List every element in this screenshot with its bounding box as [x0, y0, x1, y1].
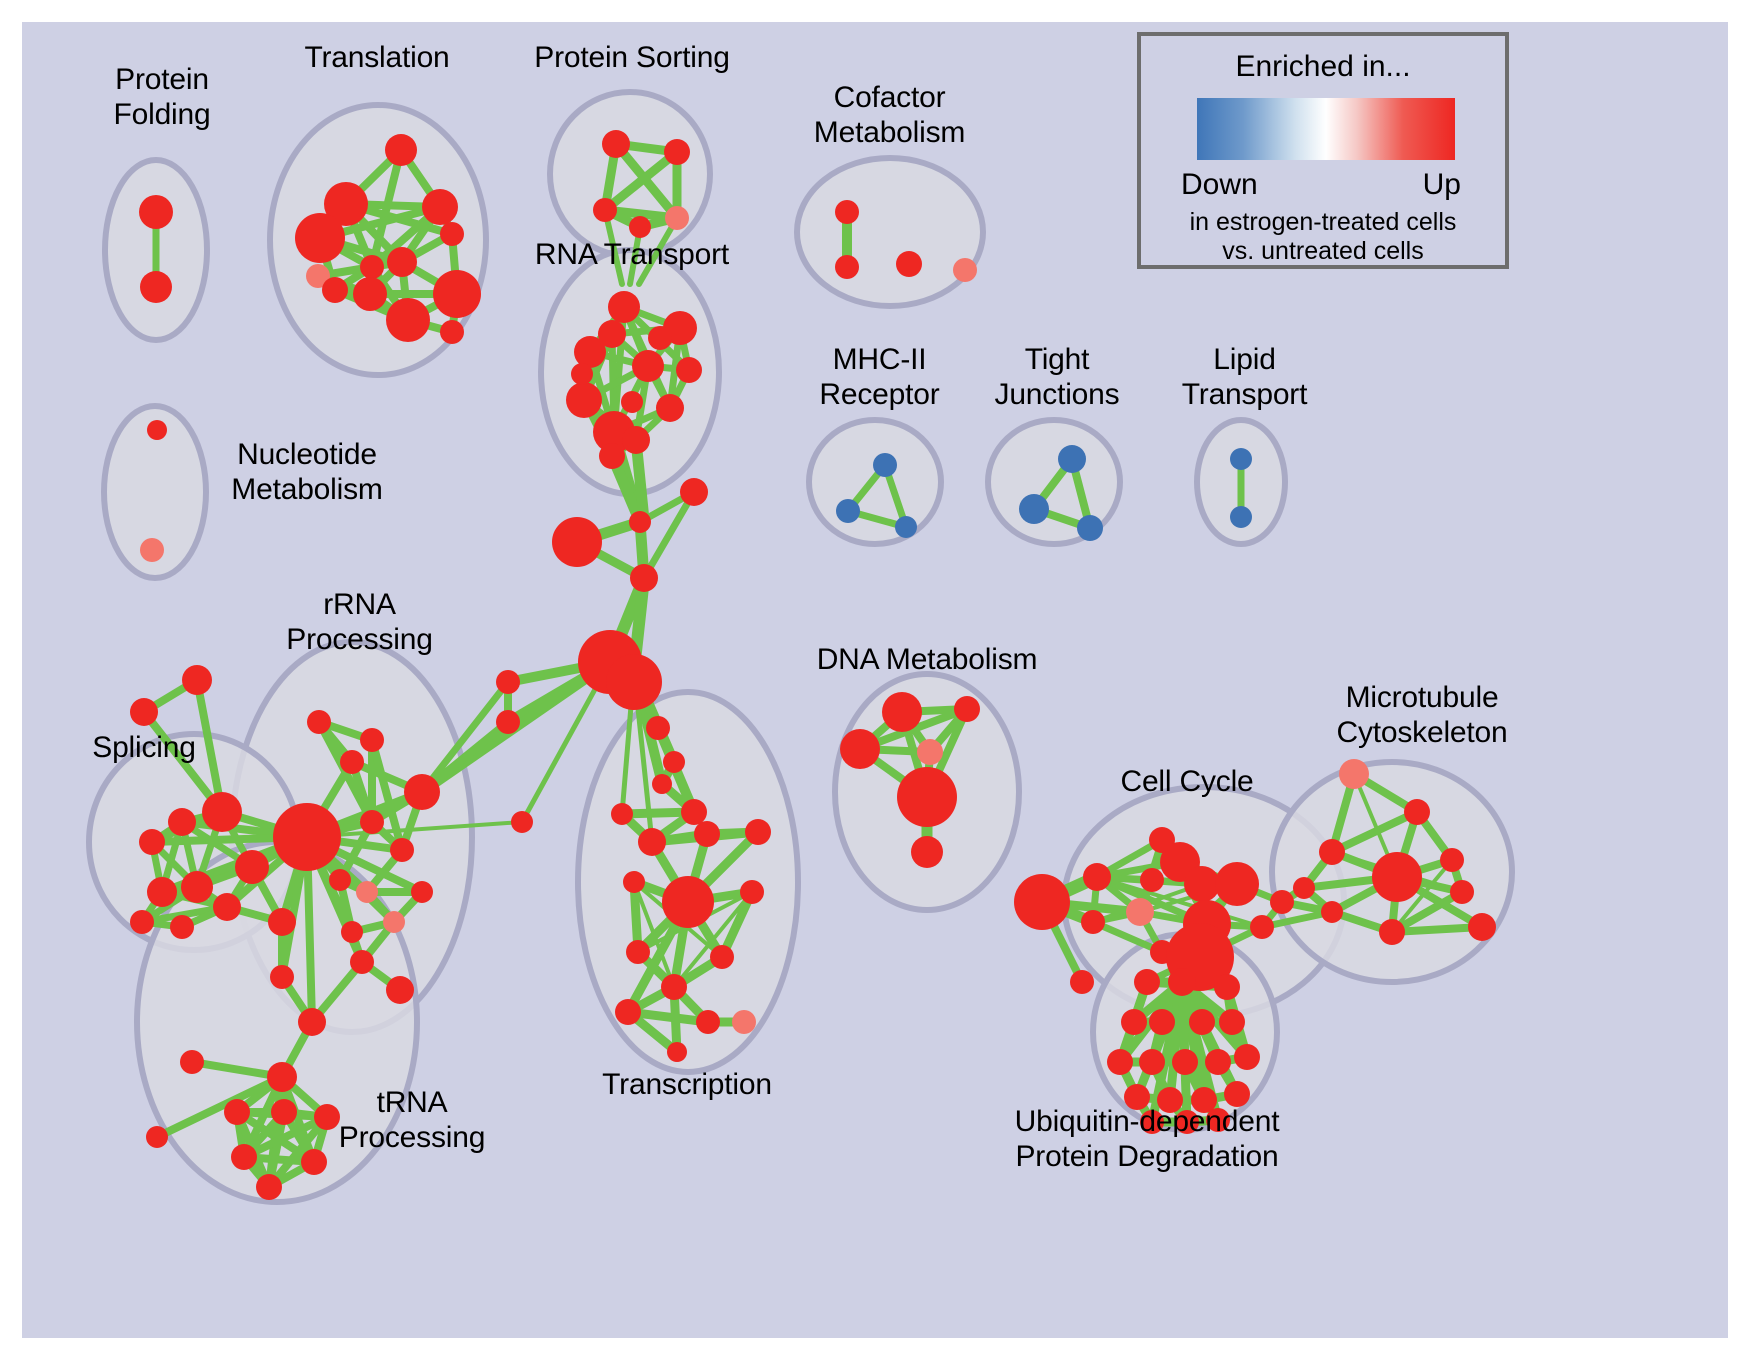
cluster-label-protein-folding: Protein Folding [82, 62, 242, 132]
node [1250, 915, 1274, 939]
node [496, 670, 520, 694]
node [681, 799, 707, 825]
node [353, 277, 387, 311]
node [648, 326, 672, 350]
node [1205, 1049, 1231, 1075]
node [140, 538, 164, 562]
node [1270, 890, 1294, 914]
node [611, 803, 633, 825]
node [911, 836, 943, 868]
node [840, 729, 880, 769]
node [1081, 910, 1105, 934]
node [390, 838, 414, 862]
node [1468, 913, 1496, 941]
cluster-label-trna-processing: tRNA Processing [312, 1085, 512, 1155]
node [385, 134, 417, 166]
node [1372, 852, 1422, 902]
cluster-label-cell-cycle: Cell Cycle [1087, 764, 1287, 799]
legend-subtitle: in estrogen-treated cells vs. untreated … [1141, 208, 1505, 266]
node [667, 1042, 687, 1062]
node [574, 336, 606, 368]
node [273, 803, 341, 871]
node [680, 478, 708, 506]
cluster-label-protein-sorting: Protein Sorting [492, 40, 772, 75]
node [954, 696, 980, 722]
node [340, 750, 364, 774]
legend-up-label: Up [1423, 168, 1461, 202]
figure-root: .ell{fill:#d9d9e2;fill-opacity:.82;strok… [0, 0, 1750, 1360]
node [629, 216, 651, 238]
node [710, 945, 734, 969]
node [740, 880, 764, 904]
node [182, 665, 212, 695]
node [224, 1099, 250, 1125]
node [139, 195, 173, 229]
node [835, 255, 859, 279]
node [256, 1174, 282, 1200]
node [341, 921, 363, 943]
node [1440, 848, 1464, 872]
node [1058, 445, 1086, 473]
node [360, 255, 384, 279]
node [180, 1050, 204, 1074]
node [1230, 506, 1252, 528]
node [181, 871, 213, 903]
node [1121, 1009, 1147, 1035]
node [615, 999, 641, 1025]
node [608, 291, 640, 323]
node [440, 222, 464, 246]
node [606, 654, 662, 710]
node [298, 1008, 326, 1036]
node [661, 974, 687, 1000]
node [1214, 974, 1240, 1000]
node [630, 564, 658, 592]
node [602, 130, 630, 158]
node [599, 443, 625, 469]
node [836, 499, 860, 523]
node [896, 251, 922, 277]
node [1321, 901, 1343, 923]
cluster-label-rrna-processing: rRNA Processing [252, 587, 467, 657]
node [1070, 970, 1094, 994]
node [130, 698, 158, 726]
node [622, 426, 650, 454]
node [170, 915, 194, 939]
node [1140, 868, 1164, 892]
node [1379, 919, 1405, 945]
node [322, 277, 348, 303]
node [139, 829, 165, 855]
node [1189, 1009, 1215, 1035]
node [676, 357, 702, 383]
node [168, 808, 196, 836]
node [146, 1126, 168, 1148]
node [895, 516, 917, 538]
node [387, 247, 417, 277]
node [626, 940, 650, 964]
node [629, 511, 651, 533]
node [350, 950, 374, 974]
node [664, 139, 690, 165]
node [231, 1144, 257, 1170]
node [147, 420, 167, 440]
legend-down-label: Down [1181, 168, 1258, 202]
node [1339, 759, 1369, 789]
node [496, 710, 520, 734]
node [953, 258, 977, 282]
node [267, 1062, 297, 1092]
cluster-label-ubiquitin: Ubiquitin-dependent Protein Degradation [972, 1104, 1322, 1174]
node [356, 881, 378, 903]
node [140, 271, 172, 303]
node [652, 774, 672, 794]
cluster-label-lipid-transport: Lipid Transport [1162, 342, 1327, 412]
node [1172, 1049, 1198, 1075]
cluster-label-dna-metabolism: DNA Metabolism [792, 642, 1062, 677]
node [1319, 839, 1345, 865]
node [656, 394, 684, 422]
node [1219, 1009, 1245, 1035]
node [1083, 863, 1111, 891]
node [511, 811, 533, 833]
node [566, 382, 602, 418]
node [268, 908, 296, 936]
node [1404, 799, 1430, 825]
node [360, 810, 384, 834]
node [329, 869, 351, 891]
node [646, 716, 670, 740]
node [386, 298, 430, 342]
node [552, 517, 602, 567]
node [130, 910, 154, 934]
node [1168, 968, 1196, 996]
node [235, 850, 269, 884]
node [632, 350, 664, 382]
node [1293, 877, 1315, 899]
ellipse-cofactor [797, 158, 983, 306]
node [623, 871, 645, 893]
node [271, 1099, 297, 1125]
node [696, 1010, 720, 1034]
node [1014, 874, 1070, 930]
node [665, 206, 689, 230]
cluster-label-translation: Translation [277, 40, 477, 75]
node [386, 976, 414, 1004]
node [1139, 1049, 1165, 1075]
node [270, 965, 294, 989]
node [571, 363, 593, 385]
cluster-label-tight-junctions: Tight Junctions [977, 342, 1137, 412]
node [422, 189, 458, 225]
legend-title: Enriched in... [1141, 50, 1505, 84]
legend-box: Enriched in... Down Up in estrogen-treat… [1137, 32, 1509, 269]
cluster-label-mhc2: MHC-II Receptor [797, 342, 962, 412]
node [411, 881, 433, 903]
node [917, 739, 943, 765]
node [360, 728, 384, 752]
node [882, 692, 922, 732]
node [1107, 1049, 1133, 1075]
node [1134, 969, 1160, 995]
node [1126, 898, 1154, 926]
node [1230, 448, 1252, 470]
node [1019, 494, 1049, 524]
node [202, 792, 242, 832]
cluster-label-nucleotide: Nucleotide Metabolism [197, 437, 417, 507]
node [404, 774, 440, 810]
node [383, 911, 405, 933]
node [835, 200, 859, 224]
cluster-label-rna-transport: RNA Transport [492, 237, 772, 272]
legend-gradient-bar [1197, 98, 1455, 160]
node [663, 751, 685, 773]
node [1450, 880, 1474, 904]
cluster-label-splicing: Splicing [64, 730, 224, 765]
node [213, 893, 241, 921]
cluster-label-transcription: Transcription [552, 1067, 822, 1102]
network-canvas: .ell{fill:#d9d9e2;fill-opacity:.82;strok… [22, 22, 1728, 1338]
node [897, 767, 957, 827]
node [694, 821, 720, 847]
node [295, 213, 345, 263]
node [1077, 515, 1103, 541]
node [1215, 862, 1259, 906]
cluster-label-cofactor: Cofactor Metabolism [782, 80, 997, 150]
node [873, 453, 897, 477]
node [1149, 1009, 1175, 1035]
node [638, 828, 666, 856]
node [621, 391, 643, 413]
node [732, 1010, 756, 1034]
cluster-label-microtubule: Microtubule Cytoskeleton [1292, 680, 1552, 750]
node [147, 877, 177, 907]
node [662, 876, 714, 928]
node [307, 710, 331, 734]
node [593, 198, 617, 222]
node [1234, 1044, 1260, 1070]
node [433, 270, 481, 318]
node [1184, 866, 1220, 902]
node [745, 819, 771, 845]
node [440, 320, 464, 344]
